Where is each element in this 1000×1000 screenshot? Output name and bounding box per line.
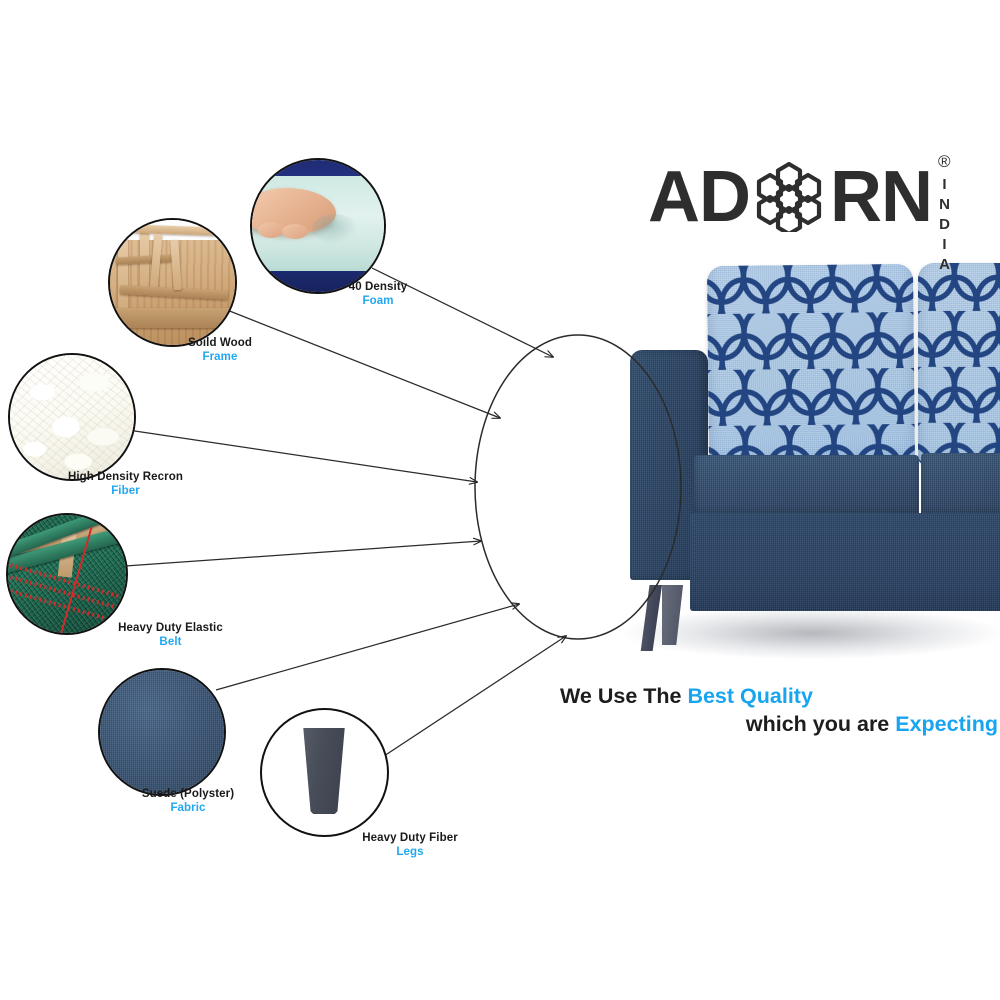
frame-caption: Soild Wood Frame xyxy=(160,337,280,364)
arrow-belt xyxy=(125,541,481,566)
belt-caption-subtitle: Belt xyxy=(108,636,233,650)
sofa-leg-icon xyxy=(296,728,352,814)
tagline-line-1: We Use The Best Quality xyxy=(560,683,1000,711)
suede-texture xyxy=(100,670,224,794)
tagline-line2-plain: which you are xyxy=(746,712,895,736)
arrow-legs xyxy=(378,636,566,760)
sofa-back-cushion-left xyxy=(707,264,915,466)
arrow-fabric xyxy=(216,604,519,690)
foam-caption-subtitle: Foam xyxy=(318,295,438,309)
honeycomb-hexagon-cluster-icon xyxy=(752,162,826,232)
sofa-seat-cushion-left xyxy=(694,455,919,517)
fabric-caption-subtitle: Fabric xyxy=(128,802,248,816)
fabric-photo-bubble xyxy=(98,668,226,796)
sofa-seat-cushion-right xyxy=(921,453,1000,517)
fiber-caption-subtitle: Fiber xyxy=(58,485,193,499)
fabric-caption-title: Suede (Polyster) xyxy=(128,788,248,802)
tagline-line-2: which you are Expecting xyxy=(560,711,1000,739)
tagline-block: We Use The Best Quality which you are Ex… xyxy=(560,683,1000,738)
fiber-photo-bubble xyxy=(8,353,136,481)
frame-caption-title: Soild Wood xyxy=(160,337,280,351)
frame-plank xyxy=(118,238,128,316)
sofa-floor-shadow xyxy=(624,607,1000,659)
tagline-line1-plain: We Use The xyxy=(560,684,687,708)
legs-caption-title: Heavy Duty Fiber xyxy=(350,832,470,846)
logo-country-label: INDIA xyxy=(936,176,953,276)
infographic-canvas: AD RN INDIA ® xyxy=(0,0,1000,1000)
belt-caption: Heavy Duty Elastic Belt xyxy=(108,622,233,649)
legs-photo-bubble xyxy=(260,708,389,837)
tagline-line2-highlight: Expecting xyxy=(895,712,998,736)
finger-shape xyxy=(282,224,308,239)
sofa-back-cushion-right xyxy=(918,263,1000,465)
foam-photo-bubble xyxy=(250,158,386,294)
fabric-caption: Suede (Polyster) Fabric xyxy=(128,788,248,815)
legs-caption: Heavy Duty Fiber Legs xyxy=(350,832,470,859)
quatrefoil-lattice-icon xyxy=(918,263,1000,465)
frame-photo-bubble xyxy=(108,218,237,347)
sofa-product-image xyxy=(618,255,1000,660)
foam-caption-title: 40 Density xyxy=(318,281,438,295)
belt-photo-bubble xyxy=(6,513,128,635)
belt-caption-title: Heavy Duty Elastic xyxy=(108,622,233,636)
foam-dent-shadow xyxy=(312,214,358,244)
fiber-caption-title: High Density Recron xyxy=(58,471,193,485)
logo-letters-after: RN xyxy=(830,156,932,238)
foam-caption: 40 Density Foam xyxy=(318,281,438,308)
quatrefoil-lattice-icon xyxy=(707,264,915,466)
fiber-caption: High Density Recron Fiber xyxy=(58,471,193,498)
sofa-base-frame xyxy=(690,513,1000,611)
legs-caption-subtitle: Legs xyxy=(350,846,470,860)
finger-shape xyxy=(258,222,284,238)
brand-logo: AD RN INDIA ® xyxy=(648,152,968,244)
registered-trademark-icon: ® xyxy=(938,152,951,172)
frame-caption-subtitle: Frame xyxy=(160,351,280,365)
logo-letters-before: AD xyxy=(648,156,750,238)
frame-plank xyxy=(114,308,232,328)
fiber-texture xyxy=(10,355,134,479)
tagline-line1-highlight: Best Quality xyxy=(687,684,812,708)
